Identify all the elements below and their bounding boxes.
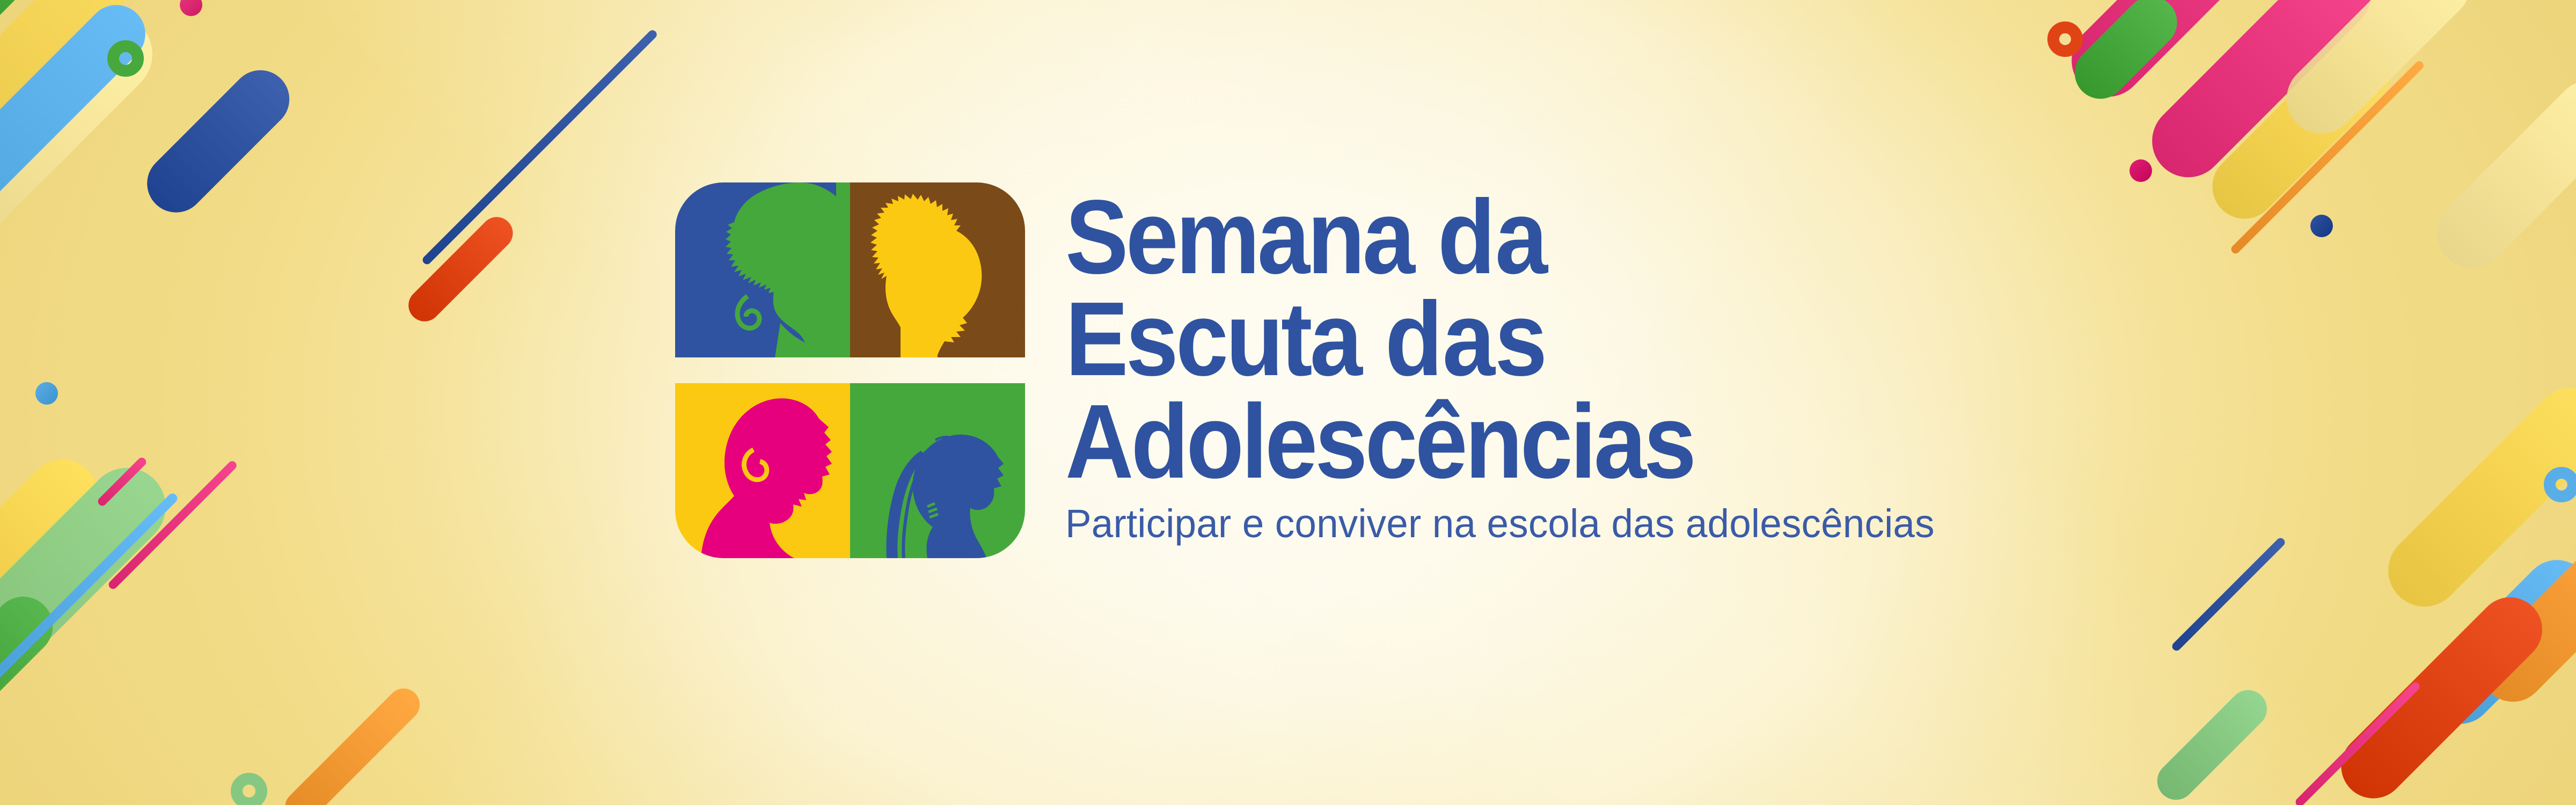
subtitle: Participar e conviver na escola das adol… [1065,502,1964,546]
title-line-1: Semana da [1065,189,1886,286]
dot-pink-tr [2129,159,2152,182]
title-block: Semana da Escuta das Adolescências Parti… [1065,189,1978,546]
logo-quadrant-top-left [675,182,850,357]
title-word-escuta: Escuta [1065,280,1360,398]
ring-green-tl [107,40,144,77]
title-word-adolescencias: Adolescências [1065,383,1694,500]
logo-quadrant-top-right [850,182,1025,357]
semana-escuta-adolescencias-logo [675,182,1025,558]
dot-blue-tr [2310,215,2333,237]
ring-orange-tr [2047,21,2083,57]
logo-quadrant-bottom-right [850,383,1025,558]
banner-root: Semana da Escuta das Adolescências Parti… [0,0,2576,805]
ring-green-bl [231,773,267,805]
title-word-da: da [1438,178,1547,296]
title-line-2: Escuta das [1065,291,1886,387]
dot-blue-tl [35,382,58,405]
title-line-3: Adolescências [1065,393,1886,490]
logo-quadrant-bottom-left [675,383,850,558]
ring-blue-br [2544,467,2576,502]
title-word-semana: Semana [1065,178,1413,296]
title-word-das: das [1385,280,1547,398]
